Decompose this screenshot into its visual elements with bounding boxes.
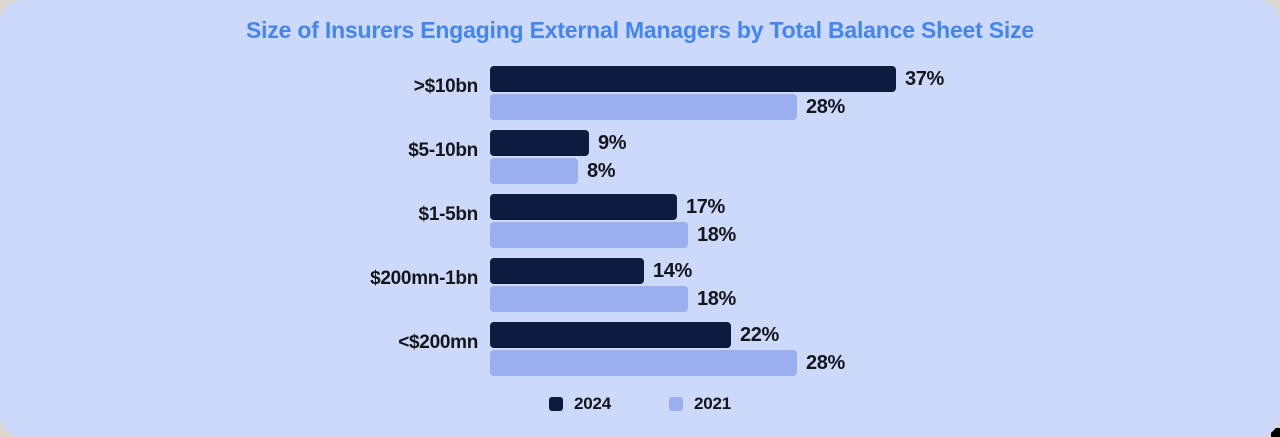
bar-value-label: 17% <box>686 196 725 219</box>
category-label: <$200mn <box>0 332 478 354</box>
bar-2021[interactable] <box>490 350 797 376</box>
bar-value-label: 28% <box>806 96 845 119</box>
bar-2024[interactable] <box>490 66 896 92</box>
legend-label-2024: 2024 <box>574 394 611 414</box>
legend-swatch-2024-icon <box>549 397 563 411</box>
bar-2024[interactable] <box>490 130 589 156</box>
bar-group: $5-10bn9%8% <box>0 126 1280 182</box>
legend-item-2021[interactable]: 2021 <box>669 394 731 414</box>
chart-legend: 2024 2021 <box>0 394 1280 414</box>
bar-2021[interactable] <box>490 158 578 184</box>
legend-label-2021: 2021 <box>694 394 731 414</box>
bar-value-label: 28% <box>806 352 845 375</box>
bar-value-label: 14% <box>653 260 692 283</box>
bar-chart-plot-area: >$10bn37%28%$5-10bn9%8%$1-5bn17%18%$200m… <box>0 62 1280 382</box>
bar-2021[interactable] <box>490 222 688 248</box>
bar-value-label: 9% <box>598 132 626 155</box>
bar-2024[interactable] <box>490 194 677 220</box>
category-label: >$10bn <box>0 76 478 98</box>
bar-group: $200mn-1bn14%18% <box>0 254 1280 310</box>
bar-group: <$200mn22%28% <box>0 318 1280 374</box>
bar-value-label: 8% <box>587 160 615 183</box>
bar-value-label: 18% <box>697 288 736 311</box>
bar-group: $1-5bn17%18% <box>0 190 1280 246</box>
category-label: $1-5bn <box>0 204 478 226</box>
chart-card: Size of Insurers Engaging External Manag… <box>0 0 1280 437</box>
bar-2024[interactable] <box>490 258 644 284</box>
category-label: $200mn-1bn <box>0 268 478 290</box>
legend-item-2024[interactable]: 2024 <box>549 394 611 414</box>
bar-value-label: 18% <box>697 224 736 247</box>
bar-2021[interactable] <box>490 94 797 120</box>
bar-value-label: 37% <box>905 68 944 91</box>
bar-group: >$10bn37%28% <box>0 62 1280 118</box>
bar-value-label: 22% <box>740 324 779 347</box>
bar-2024[interactable] <box>490 322 731 348</box>
chart-title: Size of Insurers Engaging External Manag… <box>0 17 1280 44</box>
bar-2021[interactable] <box>490 286 688 312</box>
category-label: $5-10bn <box>0 140 478 162</box>
legend-swatch-2021-icon <box>669 397 683 411</box>
